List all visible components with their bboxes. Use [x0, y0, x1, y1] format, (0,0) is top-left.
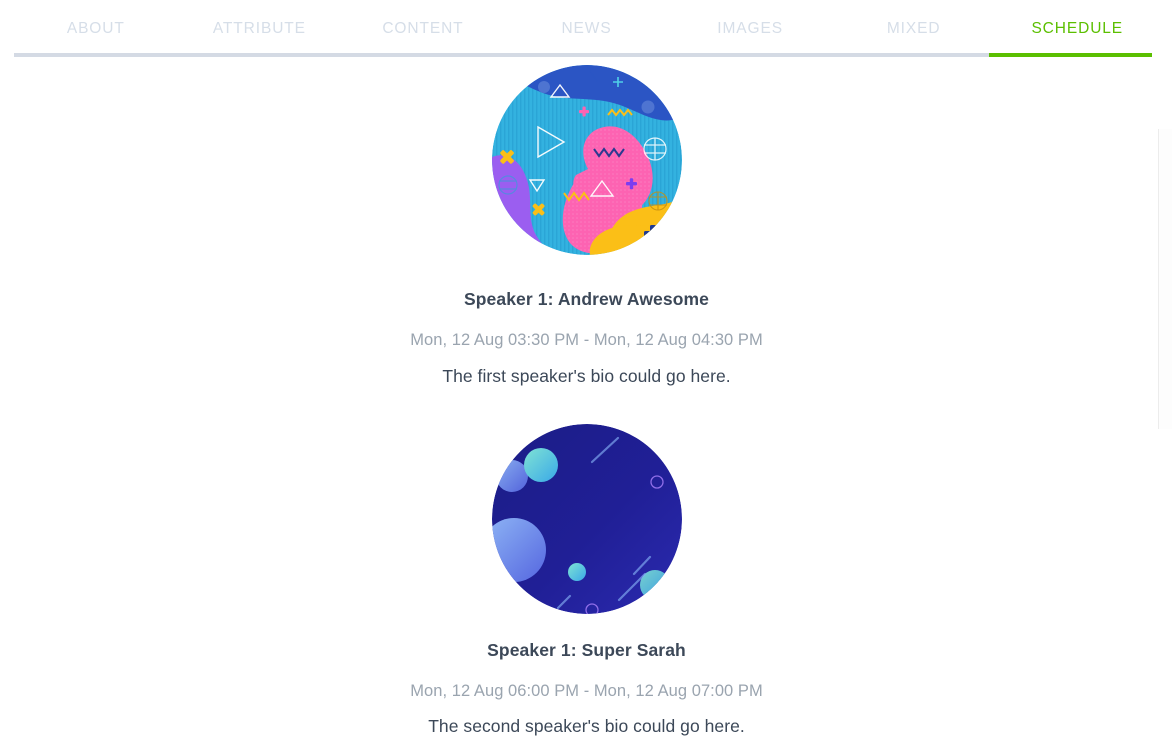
avatar-container	[0, 424, 1173, 614]
navy-space-spheres-avatar-icon	[492, 424, 682, 614]
tab-baseline-rule	[14, 53, 1152, 57]
speaker-time: Mon, 12 Aug 03:30 PM - Mon, 12 Aug 04:30…	[0, 331, 1173, 350]
speaker-avatar	[492, 424, 682, 614]
schedule-item: Speaker 1: Andrew Awesome Mon, 12 Aug 03…	[0, 65, 1173, 387]
tab-mixed[interactable]: MIXED	[832, 0, 996, 57]
tab-content[interactable]: CONTENT	[341, 0, 505, 57]
tab-attribute[interactable]: ATTRIBUTE	[178, 0, 342, 57]
avatar-container	[0, 65, 1173, 255]
scrollbar-track[interactable]	[1158, 61, 1173, 743]
tab-active-indicator	[989, 53, 1152, 57]
tab-schedule[interactable]: SCHEDULE	[995, 0, 1159, 57]
tab-bar: ABOUT ATTRIBUTE CONTENT NEWS IMAGES MIXE…	[0, 0, 1173, 61]
tab-news[interactable]: NEWS	[505, 0, 669, 57]
tab-about[interactable]: ABOUT	[14, 0, 178, 57]
abstract-memphis-avatar-icon	[492, 65, 682, 255]
speaker-bio: The first speaker's bio could go here.	[0, 366, 1173, 387]
speaker-bio: The second speaker's bio could go here.	[0, 716, 1173, 737]
speaker-name: Speaker 1: Super Sarah	[0, 640, 1173, 661]
tab-list: ABOUT ATTRIBUTE CONTENT NEWS IMAGES MIXE…	[0, 0, 1173, 57]
speaker-name: Speaker 1: Andrew Awesome	[0, 289, 1173, 310]
speaker-avatar	[492, 65, 682, 255]
tab-images[interactable]: IMAGES	[668, 0, 832, 57]
schedule-item: Speaker 1: Super Sarah Mon, 12 Aug 06:00…	[0, 424, 1173, 737]
schedule-list: Speaker 1: Andrew Awesome Mon, 12 Aug 03…	[0, 61, 1173, 737]
speaker-time: Mon, 12 Aug 06:00 PM - Mon, 12 Aug 07:00…	[0, 682, 1173, 701]
scrollbar-thumb[interactable]	[1158, 129, 1172, 429]
